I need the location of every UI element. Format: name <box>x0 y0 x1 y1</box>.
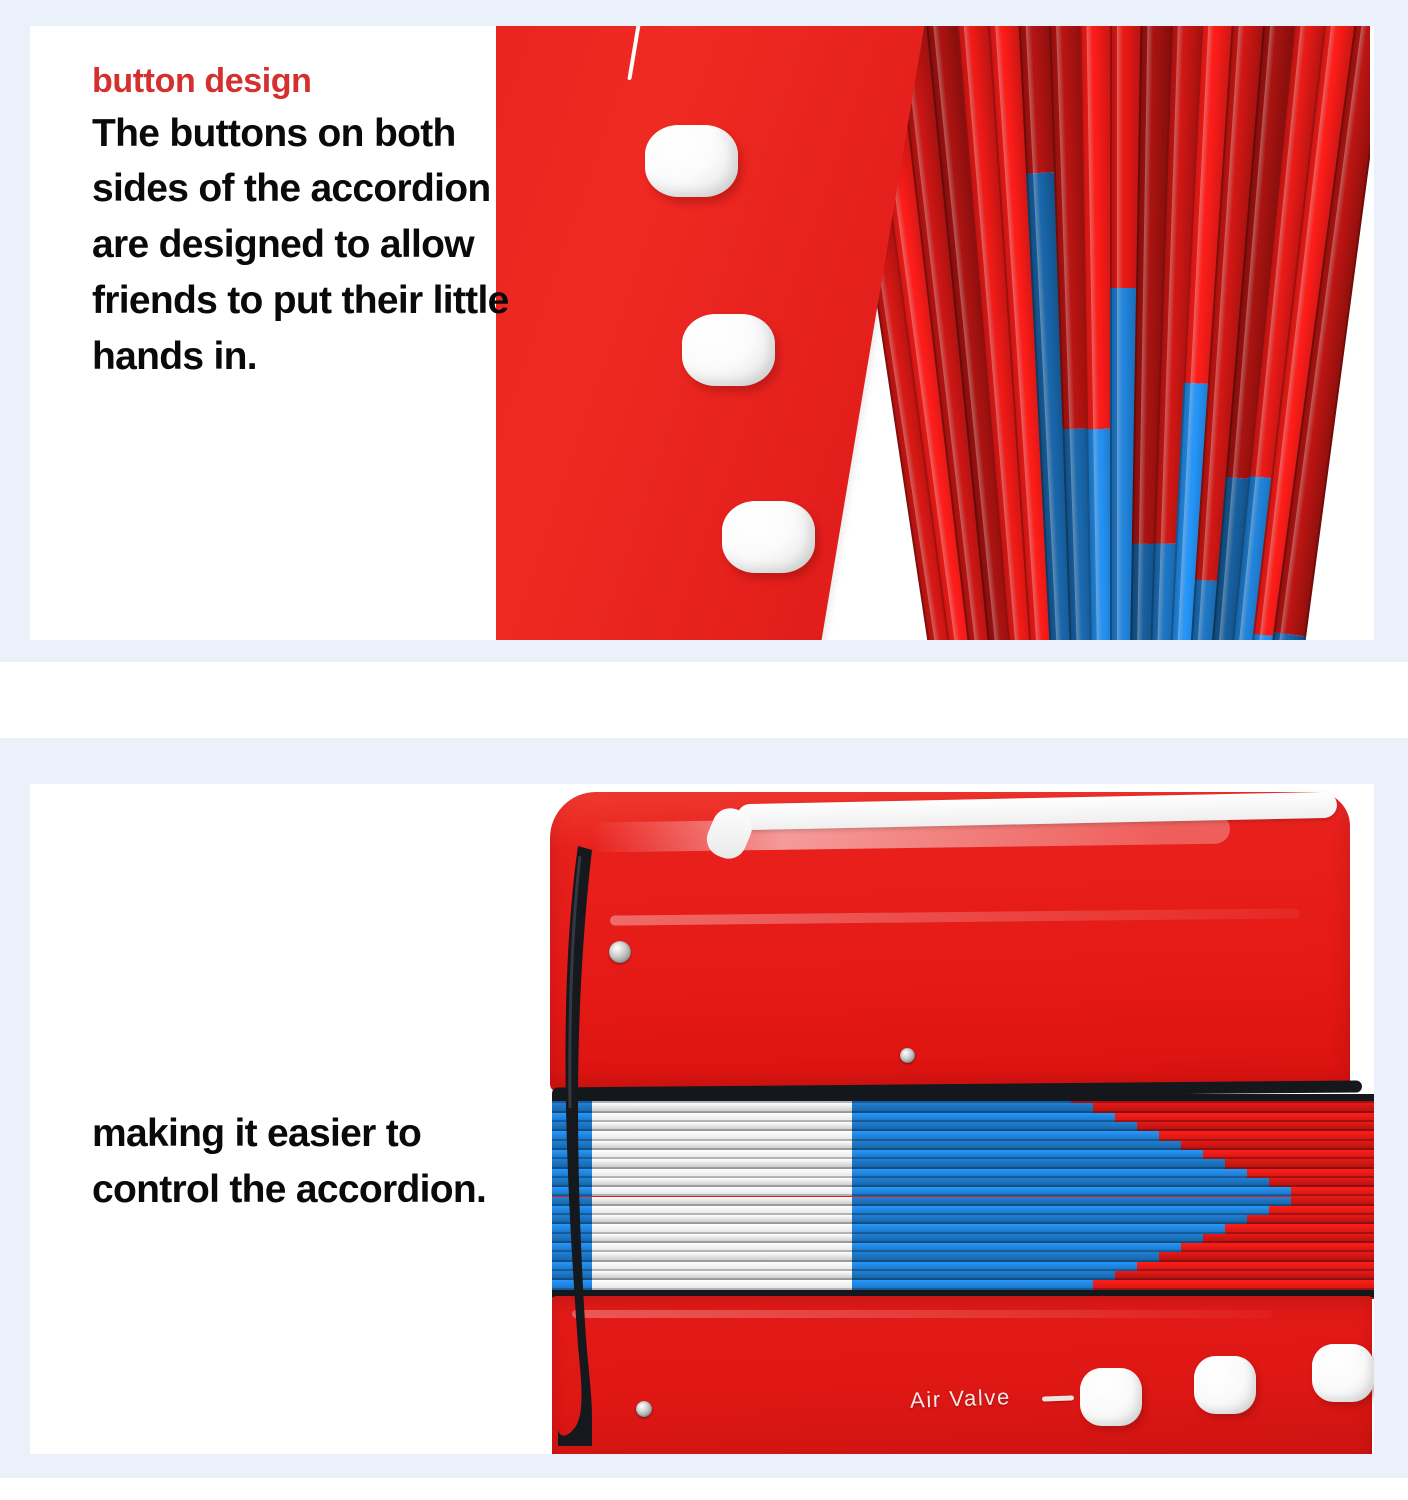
photo-accordion-body-strap-view: Air Valve <box>522 784 1374 1454</box>
accordion-button <box>682 314 775 386</box>
panel-button-design: button design The buttons on both sides … <box>0 0 1408 662</box>
bellows-pleat <box>552 1178 1374 1187</box>
accordion-lower-shell: Air Valve <box>552 1296 1372 1454</box>
bellows-pleat <box>552 1262 1374 1271</box>
bellows-pleat <box>552 1131 1374 1140</box>
bellows-pleat <box>552 1280 1374 1289</box>
bellows-pleat <box>552 1271 1374 1280</box>
bellows-pleat <box>552 1234 1374 1243</box>
panel-strap-control: making it easier to control the accordio… <box>0 738 1408 1478</box>
bellows-pleat <box>552 1243 1374 1252</box>
accordion-button <box>722 501 815 573</box>
bellows-vertical <box>836 26 1370 640</box>
accordion-air-valve-button <box>1080 1368 1142 1426</box>
bellows-horizontal <box>552 1094 1374 1299</box>
accordion-button <box>1194 1356 1256 1414</box>
bellows-pleat <box>552 1169 1374 1178</box>
copy-block-bottom: making it easier to control the accordio… <box>92 1106 532 1218</box>
gloss-highlight <box>572 1310 1272 1318</box>
photo-accordion-button-closeup <box>496 26 1370 640</box>
bellows-pleat <box>552 1150 1374 1159</box>
bellows-pleat <box>552 1252 1374 1261</box>
bellows-pleat <box>552 1206 1374 1215</box>
air-valve-label: Air Valve <box>910 1384 1012 1414</box>
accordion-button <box>645 125 738 197</box>
bellows-pleat <box>552 1224 1374 1233</box>
bellows-pleat <box>552 1187 1374 1196</box>
bellows-pleat <box>552 1197 1374 1206</box>
bellows-pleat <box>552 1141 1374 1150</box>
bellows-pleat <box>552 1159 1374 1168</box>
screw-icon <box>609 941 631 963</box>
body-text-strap-control: making it easier to control the accordio… <box>92 1106 532 1218</box>
bellows-pleat <box>552 1113 1374 1122</box>
air-valve-pointer-dash <box>1042 1395 1074 1401</box>
shoulder-strap <box>558 846 598 1446</box>
accordion-upper-shell <box>550 792 1350 1092</box>
bellows-pleat <box>552 1122 1374 1131</box>
heading-button-design: button design <box>92 64 542 100</box>
panel-top-inner: button design The buttons on both sides … <box>30 26 1374 640</box>
screw-icon <box>900 1048 915 1063</box>
infographic-page: button design The buttons on both sides … <box>0 0 1408 1500</box>
body-text-button-design: The buttons on both sides of the accordi… <box>92 106 542 385</box>
screw-icon <box>636 1401 652 1417</box>
panel-bottom-inner: making it easier to control the accordio… <box>30 784 1374 1454</box>
gloss-highlight <box>610 908 1300 925</box>
bellows-pleat <box>552 1103 1374 1112</box>
strap-shape-icon <box>558 846 598 1446</box>
bellows-pleat <box>552 1215 1374 1224</box>
accordion-button <box>1312 1344 1374 1402</box>
copy-block-top: button design The buttons on both sides … <box>92 64 542 385</box>
